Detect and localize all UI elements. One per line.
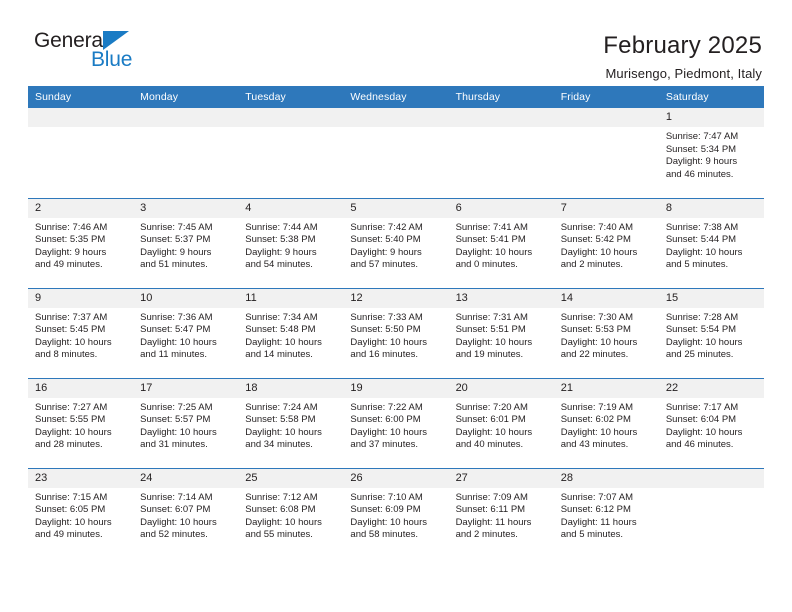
calendar-body: 1Sunrise: 7:47 AMSunset: 5:34 PMDaylight… — [28, 108, 764, 558]
day-number: 3 — [133, 199, 238, 218]
sunset-text: Sunset: 6:12 PM — [561, 504, 653, 517]
sunset-text: Sunset: 6:07 PM — [140, 504, 232, 517]
daylight-line2: and 51 minutes. — [140, 259, 232, 272]
day-cell[interactable] — [238, 108, 343, 198]
sunset-text: Sunset: 6:08 PM — [245, 504, 337, 517]
daylight-line1: Daylight: 10 hours — [350, 337, 442, 350]
day-number: 14 — [554, 289, 659, 308]
sunrise-text: Sunrise: 7:27 AM — [35, 402, 127, 415]
day-cell[interactable]: 4Sunrise: 7:44 AMSunset: 5:38 PMDaylight… — [238, 198, 343, 288]
daylight-line2: and 5 minutes. — [561, 529, 653, 542]
daylight-line1: Daylight: 10 hours — [456, 247, 548, 260]
daylight-line2: and 8 minutes. — [35, 349, 127, 362]
daylight-line1: Daylight: 11 hours — [561, 517, 653, 530]
day-details: Sunrise: 7:09 AMSunset: 6:11 PMDaylight:… — [449, 488, 554, 542]
sunset-text: Sunset: 6:04 PM — [666, 414, 758, 427]
daylight-line1: Daylight: 10 hours — [561, 337, 653, 350]
day-number: 12 — [343, 289, 448, 308]
daylight-line1: Daylight: 10 hours — [35, 337, 127, 350]
day-details: Sunrise: 7:41 AMSunset: 5:41 PMDaylight:… — [449, 218, 554, 272]
day-cell[interactable]: 18Sunrise: 7:24 AMSunset: 5:58 PMDayligh… — [238, 378, 343, 468]
sunset-text: Sunset: 5:45 PM — [35, 324, 127, 337]
sunrise-text: Sunrise: 7:20 AM — [456, 402, 548, 415]
sunrise-text: Sunrise: 7:12 AM — [245, 492, 337, 505]
daylight-line2: and 54 minutes. — [245, 259, 337, 272]
day-cell[interactable]: 28Sunrise: 7:07 AMSunset: 6:12 PMDayligh… — [554, 468, 659, 558]
day-cell[interactable] — [449, 108, 554, 198]
day-cell[interactable]: 13Sunrise: 7:31 AMSunset: 5:51 PMDayligh… — [449, 288, 554, 378]
day-number: 20 — [449, 379, 554, 398]
day-number: 22 — [659, 379, 764, 398]
daylight-line2: and 49 minutes. — [35, 259, 127, 272]
day-cell[interactable]: 19Sunrise: 7:22 AMSunset: 6:00 PMDayligh… — [343, 378, 448, 468]
daylight-line2: and 0 minutes. — [456, 259, 548, 272]
day-cell[interactable]: 8Sunrise: 7:38 AMSunset: 5:44 PMDaylight… — [659, 198, 764, 288]
day-details: Sunrise: 7:19 AMSunset: 6:02 PMDaylight:… — [554, 398, 659, 452]
sunrise-text: Sunrise: 7:14 AM — [140, 492, 232, 505]
day-number: 17 — [133, 379, 238, 398]
daylight-line2: and 46 minutes. — [666, 439, 758, 452]
day-number: 16 — [28, 379, 133, 398]
sunset-text: Sunset: 5:58 PM — [245, 414, 337, 427]
daylight-line2: and 25 minutes. — [666, 349, 758, 362]
day-cell[interactable] — [343, 108, 448, 198]
daylight-line1: Daylight: 10 hours — [666, 337, 758, 350]
calendar-table: Sunday Monday Tuesday Wednesday Thursday… — [28, 86, 764, 558]
day-cell[interactable]: 24Sunrise: 7:14 AMSunset: 6:07 PMDayligh… — [133, 468, 238, 558]
day-cell[interactable]: 1Sunrise: 7:47 AMSunset: 5:34 PMDaylight… — [659, 108, 764, 198]
day-cell[interactable]: 5Sunrise: 7:42 AMSunset: 5:40 PMDaylight… — [343, 198, 448, 288]
sunset-text: Sunset: 5:34 PM — [666, 144, 758, 157]
day-details: Sunrise: 7:30 AMSunset: 5:53 PMDaylight:… — [554, 308, 659, 362]
sunrise-text: Sunrise: 7:09 AM — [456, 492, 548, 505]
daylight-line1: Daylight: 10 hours — [456, 427, 548, 440]
day-details: Sunrise: 7:34 AMSunset: 5:48 PMDaylight:… — [238, 308, 343, 362]
sunrise-text: Sunrise: 7:40 AM — [561, 222, 653, 235]
day-cell[interactable]: 10Sunrise: 7:36 AMSunset: 5:47 PMDayligh… — [133, 288, 238, 378]
day-number: 19 — [343, 379, 448, 398]
day-number: 2 — [28, 199, 133, 218]
day-number — [343, 108, 448, 127]
sunrise-text: Sunrise: 7:36 AM — [140, 312, 232, 325]
week-row: 9Sunrise: 7:37 AMSunset: 5:45 PMDaylight… — [28, 288, 764, 378]
sunrise-text: Sunrise: 7:30 AM — [561, 312, 653, 325]
daylight-line1: Daylight: 9 hours — [35, 247, 127, 260]
sunrise-text: Sunrise: 7:25 AM — [140, 402, 232, 415]
day-number: 9 — [28, 289, 133, 308]
day-details: Sunrise: 7:36 AMSunset: 5:47 PMDaylight:… — [133, 308, 238, 362]
day-number: 8 — [659, 199, 764, 218]
daylight-line2: and 22 minutes. — [561, 349, 653, 362]
day-number: 28 — [554, 469, 659, 488]
day-number: 5 — [343, 199, 448, 218]
sunset-text: Sunset: 5:55 PM — [35, 414, 127, 427]
daylight-line1: Daylight: 10 hours — [561, 247, 653, 260]
sunset-text: Sunset: 5:35 PM — [35, 234, 127, 247]
day-number: 24 — [133, 469, 238, 488]
daylight-line2: and 19 minutes. — [456, 349, 548, 362]
day-details: Sunrise: 7:07 AMSunset: 6:12 PMDaylight:… — [554, 488, 659, 542]
day-cell[interactable]: 11Sunrise: 7:34 AMSunset: 5:48 PMDayligh… — [238, 288, 343, 378]
day-details: Sunrise: 7:40 AMSunset: 5:42 PMDaylight:… — [554, 218, 659, 272]
page-title: February 2025 — [603, 32, 762, 60]
daylight-line2: and 46 minutes. — [666, 169, 758, 182]
day-cell[interactable]: 20Sunrise: 7:20 AMSunset: 6:01 PMDayligh… — [449, 378, 554, 468]
sunset-text: Sunset: 5:51 PM — [456, 324, 548, 337]
daylight-line2: and 2 minutes. — [456, 529, 548, 542]
sunrise-text: Sunrise: 7:19 AM — [561, 402, 653, 415]
sunset-text: Sunset: 5:53 PM — [561, 324, 653, 337]
sunrise-text: Sunrise: 7:44 AM — [245, 222, 337, 235]
sunset-text: Sunset: 5:48 PM — [245, 324, 337, 337]
day-cell[interactable]: 2Sunrise: 7:46 AMSunset: 5:35 PMDaylight… — [28, 198, 133, 288]
sunrise-text: Sunrise: 7:38 AM — [666, 222, 758, 235]
sunset-text: Sunset: 5:40 PM — [350, 234, 442, 247]
day-cell[interactable]: 12Sunrise: 7:33 AMSunset: 5:50 PMDayligh… — [343, 288, 448, 378]
daylight-line1: Daylight: 10 hours — [140, 337, 232, 350]
daylight-line2: and 28 minutes. — [35, 439, 127, 452]
sunset-text: Sunset: 5:47 PM — [140, 324, 232, 337]
day-number: 13 — [449, 289, 554, 308]
day-number: 7 — [554, 199, 659, 218]
day-number: 21 — [554, 379, 659, 398]
sunrise-text: Sunrise: 7:10 AM — [350, 492, 442, 505]
day-cell[interactable]: 3Sunrise: 7:45 AMSunset: 5:37 PMDaylight… — [133, 198, 238, 288]
day-details: Sunrise: 7:17 AMSunset: 6:04 PMDaylight:… — [659, 398, 764, 452]
day-cell[interactable]: 17Sunrise: 7:25 AMSunset: 5:57 PMDayligh… — [133, 378, 238, 468]
daylight-line1: Daylight: 10 hours — [35, 427, 127, 440]
day-number: 11 — [238, 289, 343, 308]
daylight-line2: and 55 minutes. — [245, 529, 337, 542]
daylight-line2: and 57 minutes. — [350, 259, 442, 272]
day-details: Sunrise: 7:10 AMSunset: 6:09 PMDaylight:… — [343, 488, 448, 542]
day-details: Sunrise: 7:12 AMSunset: 6:08 PMDaylight:… — [238, 488, 343, 542]
weekday-header-tuesday: Tuesday — [238, 86, 343, 108]
weekday-header-wednesday: Wednesday — [343, 86, 448, 108]
day-number: 18 — [238, 379, 343, 398]
day-cell[interactable]: 15Sunrise: 7:28 AMSunset: 5:54 PMDayligh… — [659, 288, 764, 378]
day-number: 4 — [238, 199, 343, 218]
daylight-line2: and 37 minutes. — [350, 439, 442, 452]
day-cell[interactable]: 22Sunrise: 7:17 AMSunset: 6:04 PMDayligh… — [659, 378, 764, 468]
daylight-line2: and 14 minutes. — [245, 349, 337, 362]
day-cell[interactable] — [659, 468, 764, 558]
day-cell[interactable]: 7Sunrise: 7:40 AMSunset: 5:42 PMDaylight… — [554, 198, 659, 288]
sunset-text: Sunset: 5:57 PM — [140, 414, 232, 427]
general-blue-logo: General Blue — [30, 30, 150, 76]
daylight-line1: Daylight: 9 hours — [350, 247, 442, 260]
daylight-line1: Daylight: 9 hours — [140, 247, 232, 260]
weekday-header-friday: Friday — [554, 86, 659, 108]
weekday-header-monday: Monday — [133, 86, 238, 108]
day-cell[interactable] — [28, 108, 133, 198]
day-details: Sunrise: 7:14 AMSunset: 6:07 PMDaylight:… — [133, 488, 238, 542]
daylight-line1: Daylight: 10 hours — [140, 517, 232, 530]
day-number — [133, 108, 238, 127]
day-details: Sunrise: 7:31 AMSunset: 5:51 PMDaylight:… — [449, 308, 554, 362]
daylight-line1: Daylight: 11 hours — [456, 517, 548, 530]
sunrise-text: Sunrise: 7:45 AM — [140, 222, 232, 235]
daylight-line1: Daylight: 10 hours — [245, 427, 337, 440]
sunrise-text: Sunrise: 7:07 AM — [561, 492, 653, 505]
sunset-text: Sunset: 5:37 PM — [140, 234, 232, 247]
day-details: Sunrise: 7:47 AMSunset: 5:34 PMDaylight:… — [659, 127, 764, 181]
daylight-line1: Daylight: 10 hours — [561, 427, 653, 440]
daylight-line2: and 2 minutes. — [561, 259, 653, 272]
sunrise-text: Sunrise: 7:24 AM — [245, 402, 337, 415]
day-number — [659, 469, 764, 488]
day-details: Sunrise: 7:20 AMSunset: 6:01 PMDaylight:… — [449, 398, 554, 452]
daylight-line2: and 16 minutes. — [350, 349, 442, 362]
daylight-line2: and 34 minutes. — [245, 439, 337, 452]
day-cell[interactable]: 16Sunrise: 7:27 AMSunset: 5:55 PMDayligh… — [28, 378, 133, 468]
day-details: Sunrise: 7:27 AMSunset: 5:55 PMDaylight:… — [28, 398, 133, 452]
daylight-line1: Daylight: 10 hours — [666, 427, 758, 440]
weekday-header-saturday: Saturday — [659, 86, 764, 108]
day-details: Sunrise: 7:46 AMSunset: 5:35 PMDaylight:… — [28, 218, 133, 272]
sunset-text: Sunset: 5:38 PM — [245, 234, 337, 247]
day-details: Sunrise: 7:37 AMSunset: 5:45 PMDaylight:… — [28, 308, 133, 362]
weekday-header-thursday: Thursday — [449, 86, 554, 108]
sunset-text: Sunset: 6:09 PM — [350, 504, 442, 517]
day-number: 10 — [133, 289, 238, 308]
day-cell[interactable]: 26Sunrise: 7:10 AMSunset: 6:09 PMDayligh… — [343, 468, 448, 558]
day-number: 26 — [343, 469, 448, 488]
sunrise-text: Sunrise: 7:41 AM — [456, 222, 548, 235]
day-cell[interactable]: 23Sunrise: 7:15 AMSunset: 6:05 PMDayligh… — [28, 468, 133, 558]
daylight-line1: Daylight: 10 hours — [245, 337, 337, 350]
daylight-line2: and 58 minutes. — [350, 529, 442, 542]
calendar-wrapper: Sunday Monday Tuesday Wednesday Thursday… — [28, 86, 764, 558]
sunset-text: Sunset: 5:54 PM — [666, 324, 758, 337]
week-row: 23Sunrise: 7:15 AMSunset: 6:05 PMDayligh… — [28, 468, 764, 558]
daylight-line1: Daylight: 9 hours — [245, 247, 337, 260]
day-cell[interactable]: 25Sunrise: 7:12 AMSunset: 6:08 PMDayligh… — [238, 468, 343, 558]
day-details: Sunrise: 7:15 AMSunset: 6:05 PMDaylight:… — [28, 488, 133, 542]
sunset-text: Sunset: 5:42 PM — [561, 234, 653, 247]
calendar-head: Sunday Monday Tuesday Wednesday Thursday… — [28, 86, 764, 108]
sunrise-text: Sunrise: 7:34 AM — [245, 312, 337, 325]
daylight-line2: and 5 minutes. — [666, 259, 758, 272]
day-number: 15 — [659, 289, 764, 308]
day-details: Sunrise: 7:38 AMSunset: 5:44 PMDaylight:… — [659, 218, 764, 272]
day-details: Sunrise: 7:33 AMSunset: 5:50 PMDaylight:… — [343, 308, 448, 362]
day-cell[interactable]: 21Sunrise: 7:19 AMSunset: 6:02 PMDayligh… — [554, 378, 659, 468]
day-cell[interactable] — [554, 108, 659, 198]
sunset-text: Sunset: 5:50 PM — [350, 324, 442, 337]
day-details: Sunrise: 7:44 AMSunset: 5:38 PMDaylight:… — [238, 218, 343, 272]
calendar-page: General Blue February 2025 Murisengo, Pi… — [0, 0, 792, 612]
daylight-line2: and 11 minutes. — [140, 349, 232, 362]
day-cell[interactable]: 27Sunrise: 7:09 AMSunset: 6:11 PMDayligh… — [449, 468, 554, 558]
sunset-text: Sunset: 5:41 PM — [456, 234, 548, 247]
daylight-line1: Daylight: 10 hours — [350, 517, 442, 530]
weekday-header-row: Sunday Monday Tuesday Wednesday Thursday… — [28, 86, 764, 108]
day-number — [449, 108, 554, 127]
day-cell[interactable] — [133, 108, 238, 198]
sunrise-text: Sunrise: 7:42 AM — [350, 222, 442, 235]
daylight-line1: Daylight: 9 hours — [666, 156, 758, 169]
logo-text-blue: Blue — [91, 49, 132, 70]
daylight-line2: and 49 minutes. — [35, 529, 127, 542]
day-details: Sunrise: 7:45 AMSunset: 5:37 PMDaylight:… — [133, 218, 238, 272]
day-cell[interactable]: 6Sunrise: 7:41 AMSunset: 5:41 PMDaylight… — [449, 198, 554, 288]
sunrise-text: Sunrise: 7:46 AM — [35, 222, 127, 235]
sunset-text: Sunset: 6:01 PM — [456, 414, 548, 427]
day-number: 27 — [449, 469, 554, 488]
sunrise-text: Sunrise: 7:47 AM — [666, 131, 758, 144]
day-number: 25 — [238, 469, 343, 488]
sunset-text: Sunset: 6:11 PM — [456, 504, 548, 517]
daylight-line2: and 31 minutes. — [140, 439, 232, 452]
page-header: General Blue February 2025 Murisengo, Pi… — [0, 0, 792, 76]
week-row: 16Sunrise: 7:27 AMSunset: 5:55 PMDayligh… — [28, 378, 764, 468]
daylight-line1: Daylight: 10 hours — [350, 427, 442, 440]
week-row: 2Sunrise: 7:46 AMSunset: 5:35 PMDaylight… — [28, 198, 764, 288]
day-details: Sunrise: 7:28 AMSunset: 5:54 PMDaylight:… — [659, 308, 764, 362]
sunrise-text: Sunrise: 7:31 AM — [456, 312, 548, 325]
daylight-line2: and 52 minutes. — [140, 529, 232, 542]
daylight-line2: and 43 minutes. — [561, 439, 653, 452]
sunrise-text: Sunrise: 7:37 AM — [35, 312, 127, 325]
day-details: Sunrise: 7:42 AMSunset: 5:40 PMDaylight:… — [343, 218, 448, 272]
day-number — [238, 108, 343, 127]
day-number — [554, 108, 659, 127]
day-number: 6 — [449, 199, 554, 218]
sunrise-text: Sunrise: 7:22 AM — [350, 402, 442, 415]
day-details: Sunrise: 7:22 AMSunset: 6:00 PMDaylight:… — [343, 398, 448, 452]
day-number — [28, 108, 133, 127]
daylight-line1: Daylight: 10 hours — [140, 427, 232, 440]
daylight-line1: Daylight: 10 hours — [245, 517, 337, 530]
sunset-text: Sunset: 5:44 PM — [666, 234, 758, 247]
sunrise-text: Sunrise: 7:28 AM — [666, 312, 758, 325]
sunrise-text: Sunrise: 7:17 AM — [666, 402, 758, 415]
sunset-text: Sunset: 6:02 PM — [561, 414, 653, 427]
day-details: Sunrise: 7:24 AMSunset: 5:58 PMDaylight:… — [238, 398, 343, 452]
title-block: February 2025 Murisengo, Piedmont, Italy — [603, 30, 762, 81]
sunrise-text: Sunrise: 7:33 AM — [350, 312, 442, 325]
sunset-text: Sunset: 6:05 PM — [35, 504, 127, 517]
day-cell[interactable]: 14Sunrise: 7:30 AMSunset: 5:53 PMDayligh… — [554, 288, 659, 378]
week-row: 1Sunrise: 7:47 AMSunset: 5:34 PMDaylight… — [28, 108, 764, 198]
daylight-line1: Daylight: 10 hours — [666, 247, 758, 260]
daylight-line1: Daylight: 10 hours — [35, 517, 127, 530]
sunset-text: Sunset: 6:00 PM — [350, 414, 442, 427]
daylight-line2: and 40 minutes. — [456, 439, 548, 452]
page-subtitle: Murisengo, Piedmont, Italy — [603, 66, 762, 81]
weekday-header-sunday: Sunday — [28, 86, 133, 108]
daylight-line1: Daylight: 10 hours — [456, 337, 548, 350]
sunrise-text: Sunrise: 7:15 AM — [35, 492, 127, 505]
day-number: 23 — [28, 469, 133, 488]
day-details: Sunrise: 7:25 AMSunset: 5:57 PMDaylight:… — [133, 398, 238, 452]
day-cell[interactable]: 9Sunrise: 7:37 AMSunset: 5:45 PMDaylight… — [28, 288, 133, 378]
day-number: 1 — [659, 108, 764, 127]
